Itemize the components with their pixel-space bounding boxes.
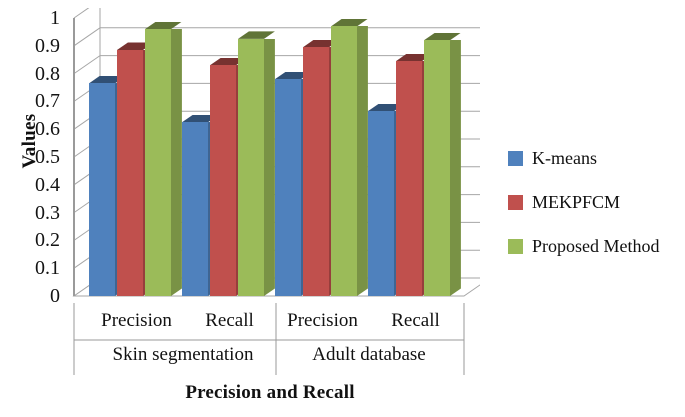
y-tick-label: 0.4 <box>14 175 60 195</box>
legend-label: K-means <box>532 149 597 167</box>
y-axis-tick-labels: 10.90.80.70.60.50.40.30.20.10 <box>6 0 60 417</box>
category-axis-labels: PrecisionRecallPrecisionRecall <box>60 310 480 344</box>
bar <box>182 122 208 296</box>
bar-front-face <box>238 39 264 296</box>
bar-front-face <box>182 122 208 296</box>
bar <box>238 39 264 296</box>
y-tick-label: 0 <box>14 286 60 306</box>
y-tick-label: 0.7 <box>14 91 60 111</box>
x-axis-title: Precision and Recall <box>60 382 480 404</box>
legend-swatch <box>508 195 523 210</box>
bar-front-face <box>89 83 115 296</box>
bar <box>368 111 394 296</box>
plot-area <box>60 8 480 308</box>
bar-front-face <box>145 29 171 296</box>
bar <box>275 79 301 296</box>
legend-label: MEKPFCM <box>532 193 620 211</box>
group-axis-labels: Skin segmentationAdult database <box>60 344 480 376</box>
legend: K-meansMEKPFCMProposed Method <box>508 148 683 280</box>
bar-front-face <box>368 111 394 296</box>
legend-item: MEKPFCM <box>508 192 683 212</box>
legend-label: Proposed Method <box>532 237 660 255</box>
bar-side-face <box>264 39 275 296</box>
y-tick-label: 0.2 <box>14 230 60 250</box>
y-tick-label: 0.5 <box>14 147 60 167</box>
bar-front-face <box>424 40 450 296</box>
legend-item: Proposed Method <box>508 236 683 256</box>
y-tick-label: 0.9 <box>14 36 60 56</box>
group-label: Adult database <box>269 344 469 366</box>
bar-front-face <box>117 50 143 296</box>
bar <box>303 47 329 296</box>
bar-side-face <box>450 40 461 296</box>
y-tick-label: 1 <box>14 8 60 28</box>
legend-item: K-means <box>508 148 683 168</box>
bar <box>89 83 115 296</box>
bar-front-face <box>210 65 236 296</box>
bar-front-face <box>275 79 301 296</box>
bar <box>396 61 422 296</box>
category-label: Recall <box>361 310 471 332</box>
legend-swatch <box>508 151 523 166</box>
bar <box>117 50 143 296</box>
y-tick-label: 0.3 <box>14 203 60 223</box>
bar-chart: Values 10.90.80.70.60.50.40.30.20.10 Pre… <box>0 0 685 417</box>
bar <box>145 29 171 296</box>
bar <box>331 26 357 296</box>
y-tick-label: 0.1 <box>14 258 60 278</box>
group-label: Skin segmentation <box>83 344 283 366</box>
bar <box>210 65 236 296</box>
y-tick-label: 0.8 <box>14 64 60 84</box>
bar-side-face <box>171 29 182 296</box>
y-tick-label: 0.6 <box>14 119 60 139</box>
bar-front-face <box>331 26 357 296</box>
bar-front-face <box>396 61 422 296</box>
bar-side-face <box>357 26 368 296</box>
legend-swatch <box>508 239 523 254</box>
bar-front-face <box>303 47 329 296</box>
bar <box>424 40 450 296</box>
